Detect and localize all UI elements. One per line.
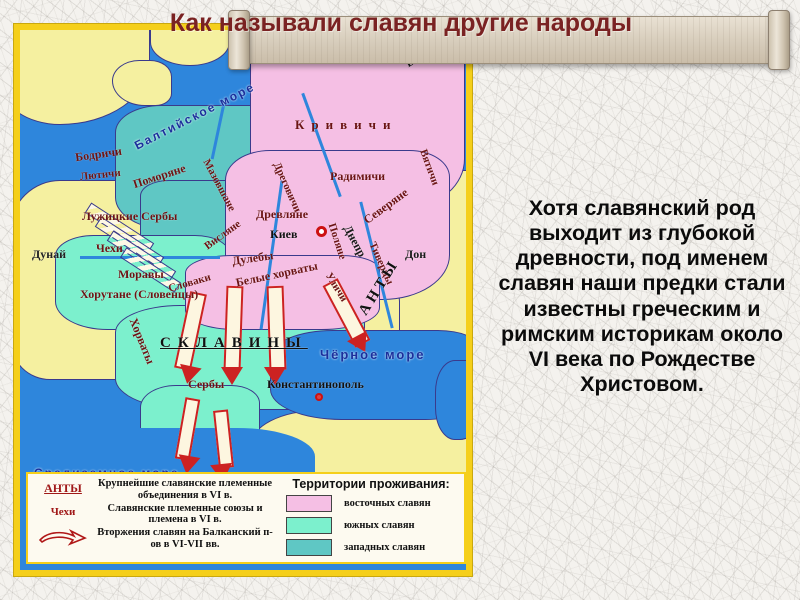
legend-desc-anty: Крупнейшие славянские племенные объедине… (94, 478, 276, 502)
city-marker-kiev (316, 226, 327, 237)
legend-desc-invasion: Вторжения славян на Балканский п-ов в VI… (94, 527, 276, 551)
invasion-arrow-3 (267, 286, 287, 371)
invasion-arrow-2 (224, 286, 244, 371)
sea-label-black: Чёрное море (320, 348, 426, 361)
city-label-constantinople: Константинополь (267, 378, 364, 390)
union-label-sklaviny: СКЛАВИНЫ (160, 336, 308, 351)
tribe-label-luzhitskie-serby: Лужицкие Сербы (82, 210, 177, 223)
legend-swatch-row-south: южных славян (282, 517, 460, 534)
legend-swatch-west (286, 539, 332, 556)
legend-left-column: АНТЫ Крупнейшие славянские племенные объ… (28, 474, 278, 562)
city-label-kiev: Киев (270, 228, 297, 240)
legend-label-east: восточных славян (344, 498, 431, 509)
map-legend: АНТЫ Крупнейшие славянские племенные объ… (26, 472, 466, 564)
city-marker-constantinople (315, 393, 323, 401)
legend-swatch-east (286, 495, 332, 512)
legend-swatch-south (286, 517, 332, 534)
legend-territories-title: Территории проживания: (282, 477, 460, 491)
historical-map: Балтийское море Чёрное море Средиземное … (14, 24, 472, 576)
legend-key-chehi: Чехи (32, 503, 94, 518)
sea-caspian (435, 360, 472, 440)
legend-row-anty: АНТЫ Крупнейшие славянские племенные объ… (32, 478, 276, 502)
tribe-label-chehi: Чехи (96, 242, 123, 254)
slide-body-text: Хотя славянский род выходит из глубокой … (492, 196, 792, 397)
tribe-label-krivichi: Кривичи (295, 118, 397, 131)
legend-swatch-row-west: западных славян (282, 539, 460, 556)
legend-swatch-row-east: восточных славян (282, 495, 460, 512)
invasion-arrow-2-head (221, 367, 243, 385)
tribe-label-serby: Сербы (188, 378, 224, 390)
legend-right-column: Территории проживания: восточных славян … (278, 474, 464, 562)
tribe-label-radimichi: Радимичи (330, 170, 385, 182)
legend-key-invasion (32, 527, 94, 551)
legend-key-anty: АНТЫ (32, 478, 94, 496)
slide-title: Как называли славян другие народы (30, 9, 772, 39)
legend-label-west: западных славян (344, 542, 425, 553)
legend-row-invasion: Вторжения славян на Балканский п-ов в VI… (32, 527, 276, 551)
legend-desc-chehi: Славянские племенные союзы и племена в V… (94, 503, 276, 527)
river-label-don: Дон (405, 248, 426, 260)
tribe-label-moravy: Моравы (118, 268, 164, 280)
river-label-dunai: Дунай (32, 248, 66, 260)
legend-label-south: южных славян (344, 520, 415, 531)
red-arrow-icon (38, 529, 88, 546)
tribe-label-drevlyane: Древляне (256, 208, 308, 220)
legend-row-chehi: Чехи Славянские племенные союзы и племен… (32, 503, 276, 527)
tribe-label-horutane: Хорутане (Словенцы) (80, 288, 198, 301)
